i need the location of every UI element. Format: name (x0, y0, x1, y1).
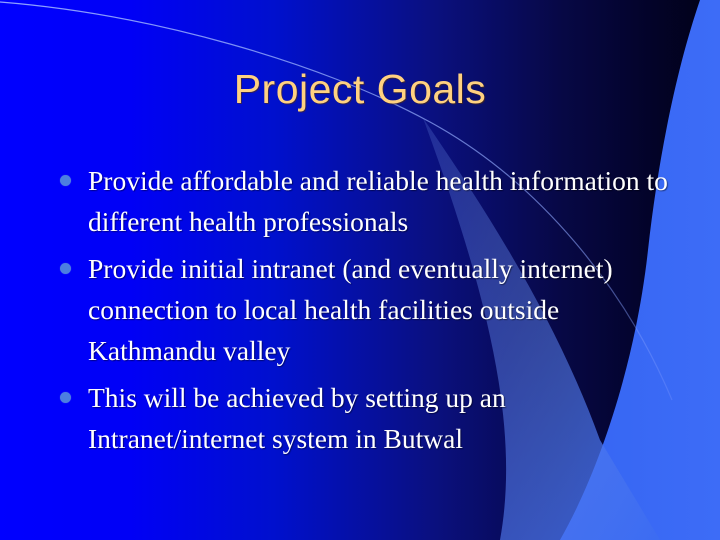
presentation-slide: Project Goals Provide affordable and rel… (0, 0, 720, 540)
slide-title: Project Goals (0, 66, 720, 113)
bullet-text: Provide affordable and reliable health i… (88, 160, 670, 242)
bullet-text: Provide initial intranet (and eventually… (88, 248, 670, 371)
bullet-list-item: Provide initial intranet (and eventually… (58, 248, 670, 371)
disc-bullet-icon (60, 263, 71, 274)
disc-bullet-icon (60, 392, 71, 403)
bullet-list-item: This will be achieved by setting up an I… (58, 377, 670, 459)
bullet-list-item: Provide affordable and reliable health i… (58, 160, 670, 242)
slide-body-bullet-list: Provide affordable and reliable health i… (58, 160, 670, 465)
bullet-text: This will be achieved by setting up an I… (88, 377, 670, 459)
disc-bullet-icon (60, 175, 71, 186)
